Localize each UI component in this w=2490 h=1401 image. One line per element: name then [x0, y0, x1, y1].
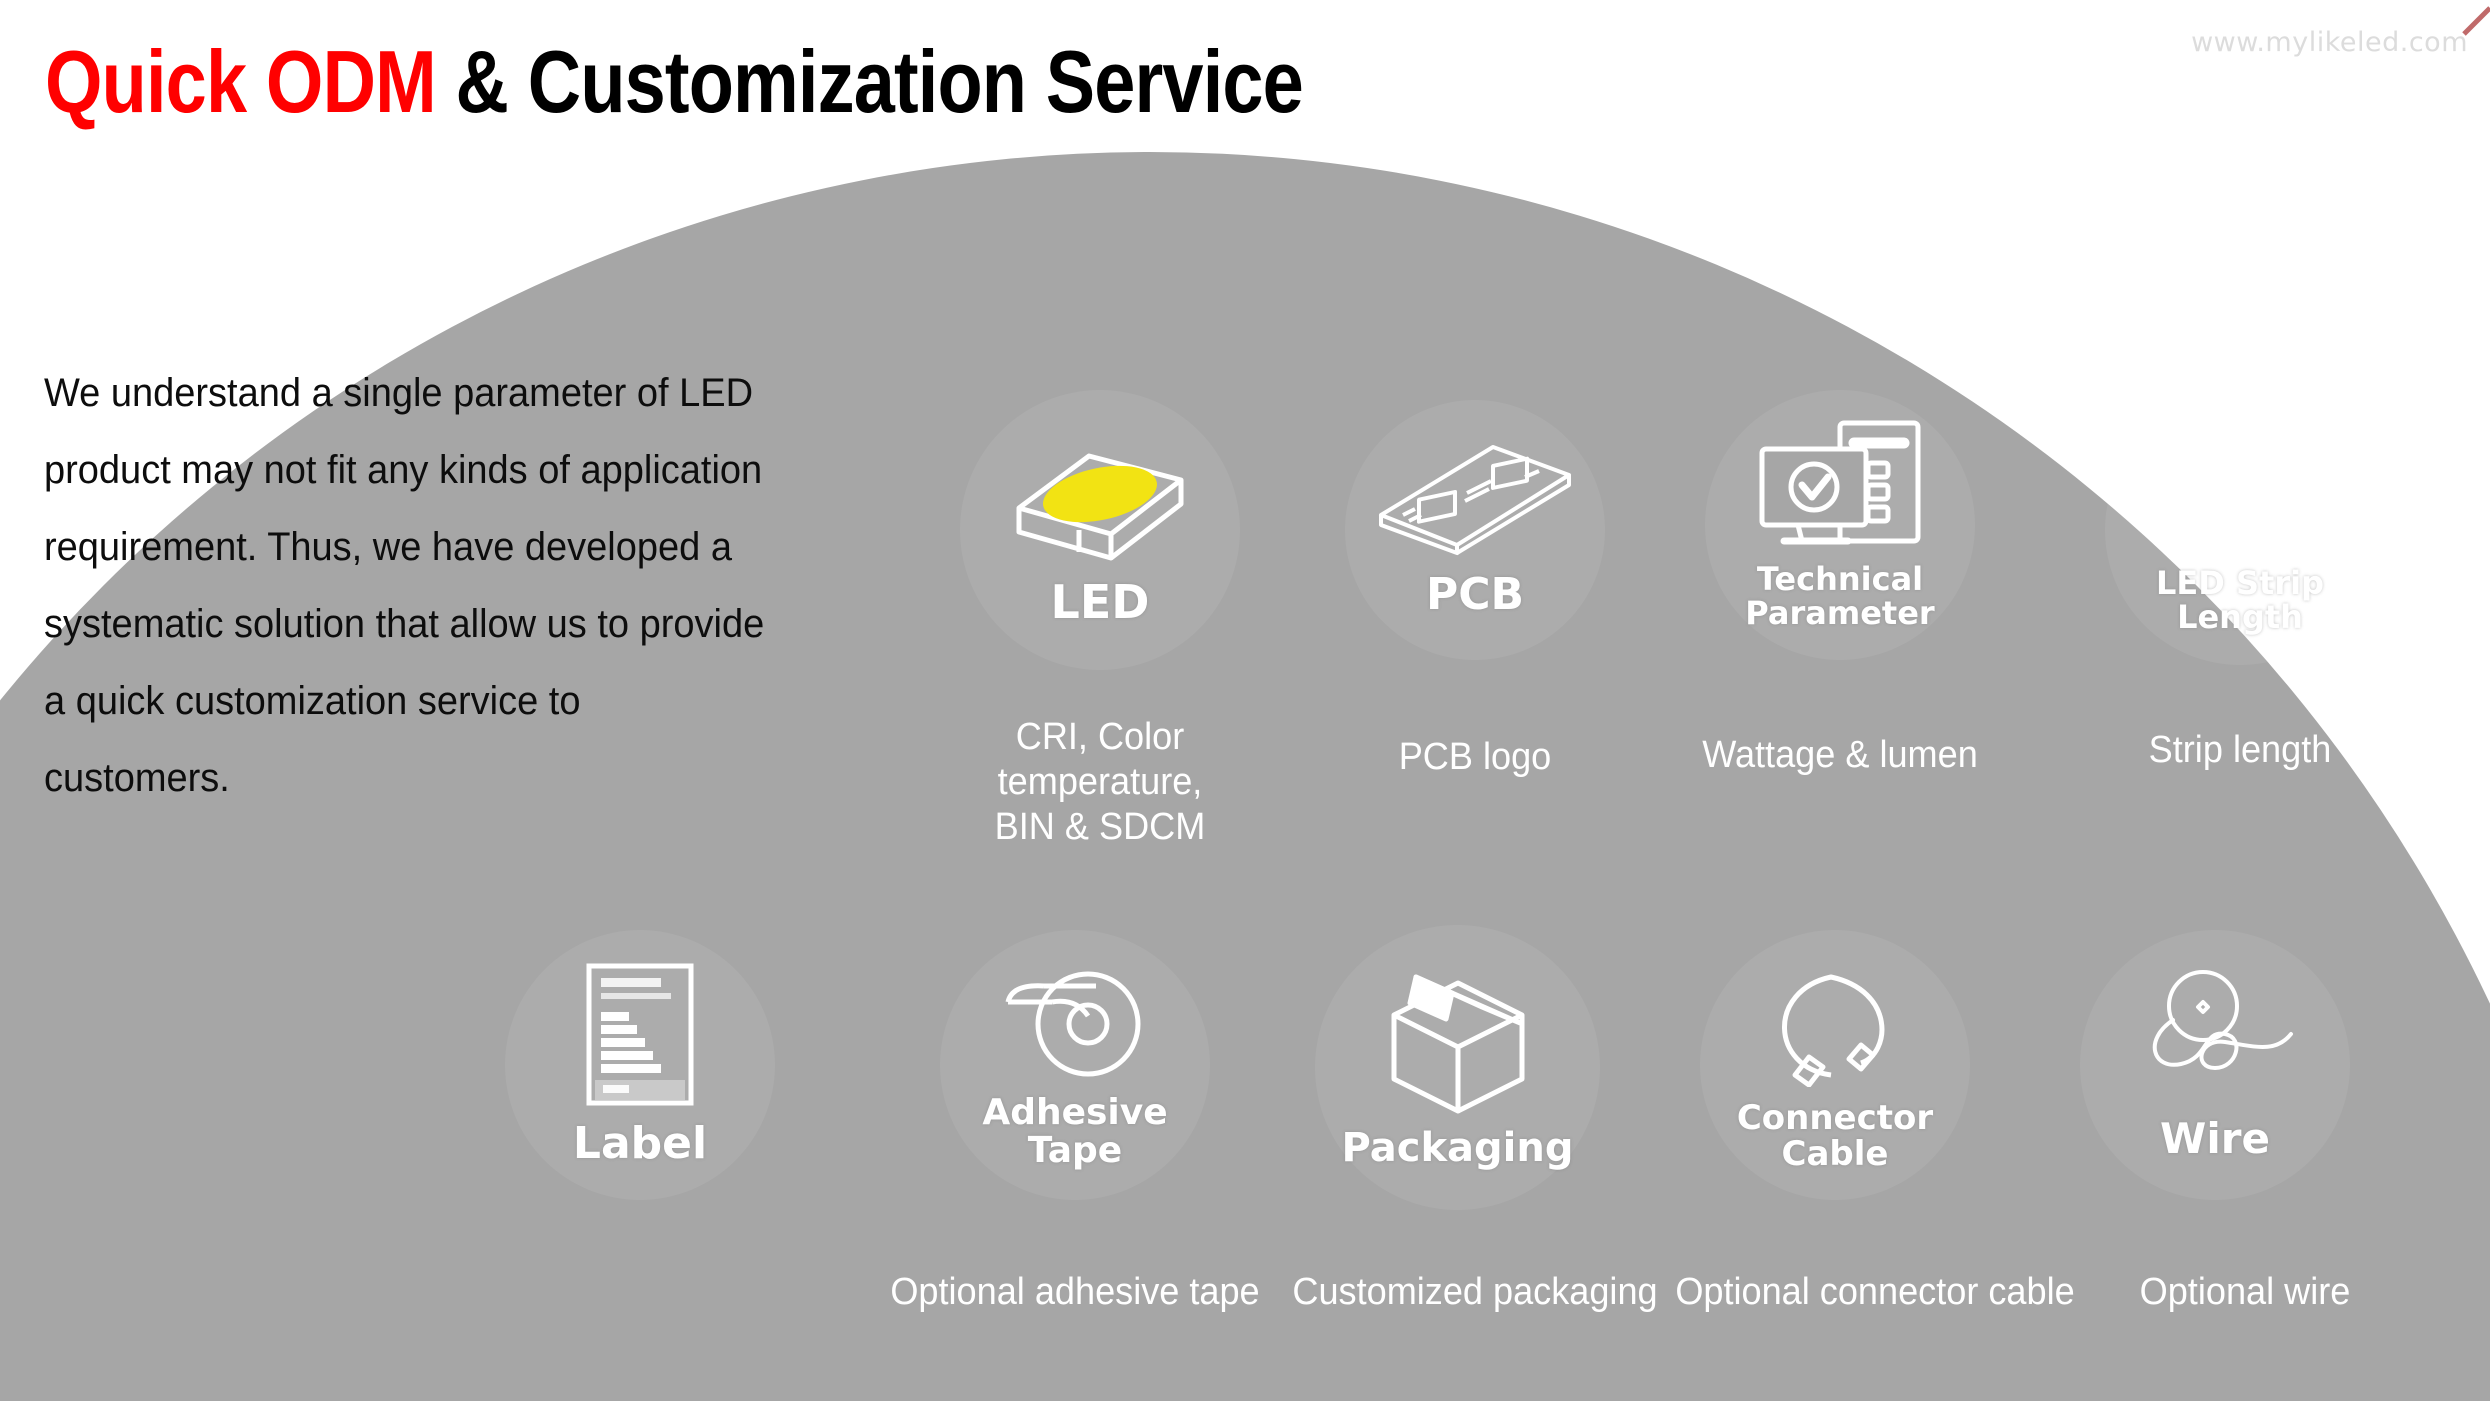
- intro-paragraph: We understand a single parameter of LED …: [44, 355, 766, 817]
- packaging-box-icon: [1378, 967, 1538, 1117]
- caption-pcb-logo: PCB logo: [1342, 735, 1608, 780]
- bubble-packaging-label: Packaging: [1342, 1127, 1574, 1169]
- bubble-led-strip-length-label: LED Strip Length: [2156, 567, 2324, 634]
- bubble-led-label: LED: [1051, 578, 1150, 626]
- bubble-adhesive-tape[interactable]: Adhesive Tape: [940, 930, 1210, 1200]
- page-title-rest: & Customization Service: [436, 32, 1303, 131]
- bubble-pcb-label: PCB: [1426, 572, 1524, 618]
- caption-strip-length: Strip length: [2102, 728, 2378, 773]
- caption-cri-color: CRI, Color temperature, BIN & SDCM: [967, 715, 1233, 850]
- adhesive-tape-icon: [1000, 960, 1150, 1080]
- label-card-icon: [585, 962, 695, 1107]
- bubble-connector-cable[interactable]: Connector Cable: [1700, 930, 1970, 1200]
- bubble-led[interactable]: LED: [960, 390, 1240, 670]
- pcb-board-icon: [1375, 441, 1575, 556]
- bubble-wire-label: Wire: [2160, 1117, 2270, 1161]
- bubble-technical-parameter-label: Technical Parameter: [1745, 563, 1934, 630]
- led-strip-length-icon: [2145, 425, 2335, 555]
- corner-slash-icon: [2410, 0, 2490, 60]
- bubble-label-label: Label: [573, 1121, 707, 1167]
- bubble-packaging[interactable]: Packaging: [1315, 925, 1600, 1210]
- caption-optional-adhesive-tape: Optional adhesive tape: [880, 1270, 1270, 1315]
- bubble-led-strip-length[interactable]: LED Strip Length: [2105, 395, 2375, 665]
- led-chip-icon: [1005, 434, 1195, 564]
- wire-spool-icon: [2133, 968, 2298, 1103]
- bubble-technical-parameter[interactable]: Technical Parameter: [1705, 390, 1975, 660]
- technical-parameter-icon: [1758, 419, 1923, 549]
- bubble-adhesive-tape-label: Adhesive Tape: [982, 1094, 1167, 1170]
- page-title-accent: Quick ODM: [45, 32, 436, 131]
- bubble-label[interactable]: Label: [505, 930, 775, 1200]
- bubble-wire[interactable]: Wire: [2080, 930, 2350, 1200]
- caption-optional-connector-cable: Optional connector cable: [1666, 1270, 2084, 1315]
- connector-cable-icon: [1765, 957, 1905, 1087]
- caption-wattage-lumen: Wattage & lumen: [1698, 733, 1983, 778]
- caption-customized-packaging: Customized packaging: [1285, 1270, 1665, 1315]
- page-title: Quick ODM & Customization Service: [45, 38, 1303, 126]
- caption-optional-wire: Optional wire: [2103, 1270, 2388, 1315]
- bubble-pcb[interactable]: PCB: [1345, 400, 1605, 660]
- bubble-connector-cable-label: Connector Cable: [1737, 1101, 1933, 1172]
